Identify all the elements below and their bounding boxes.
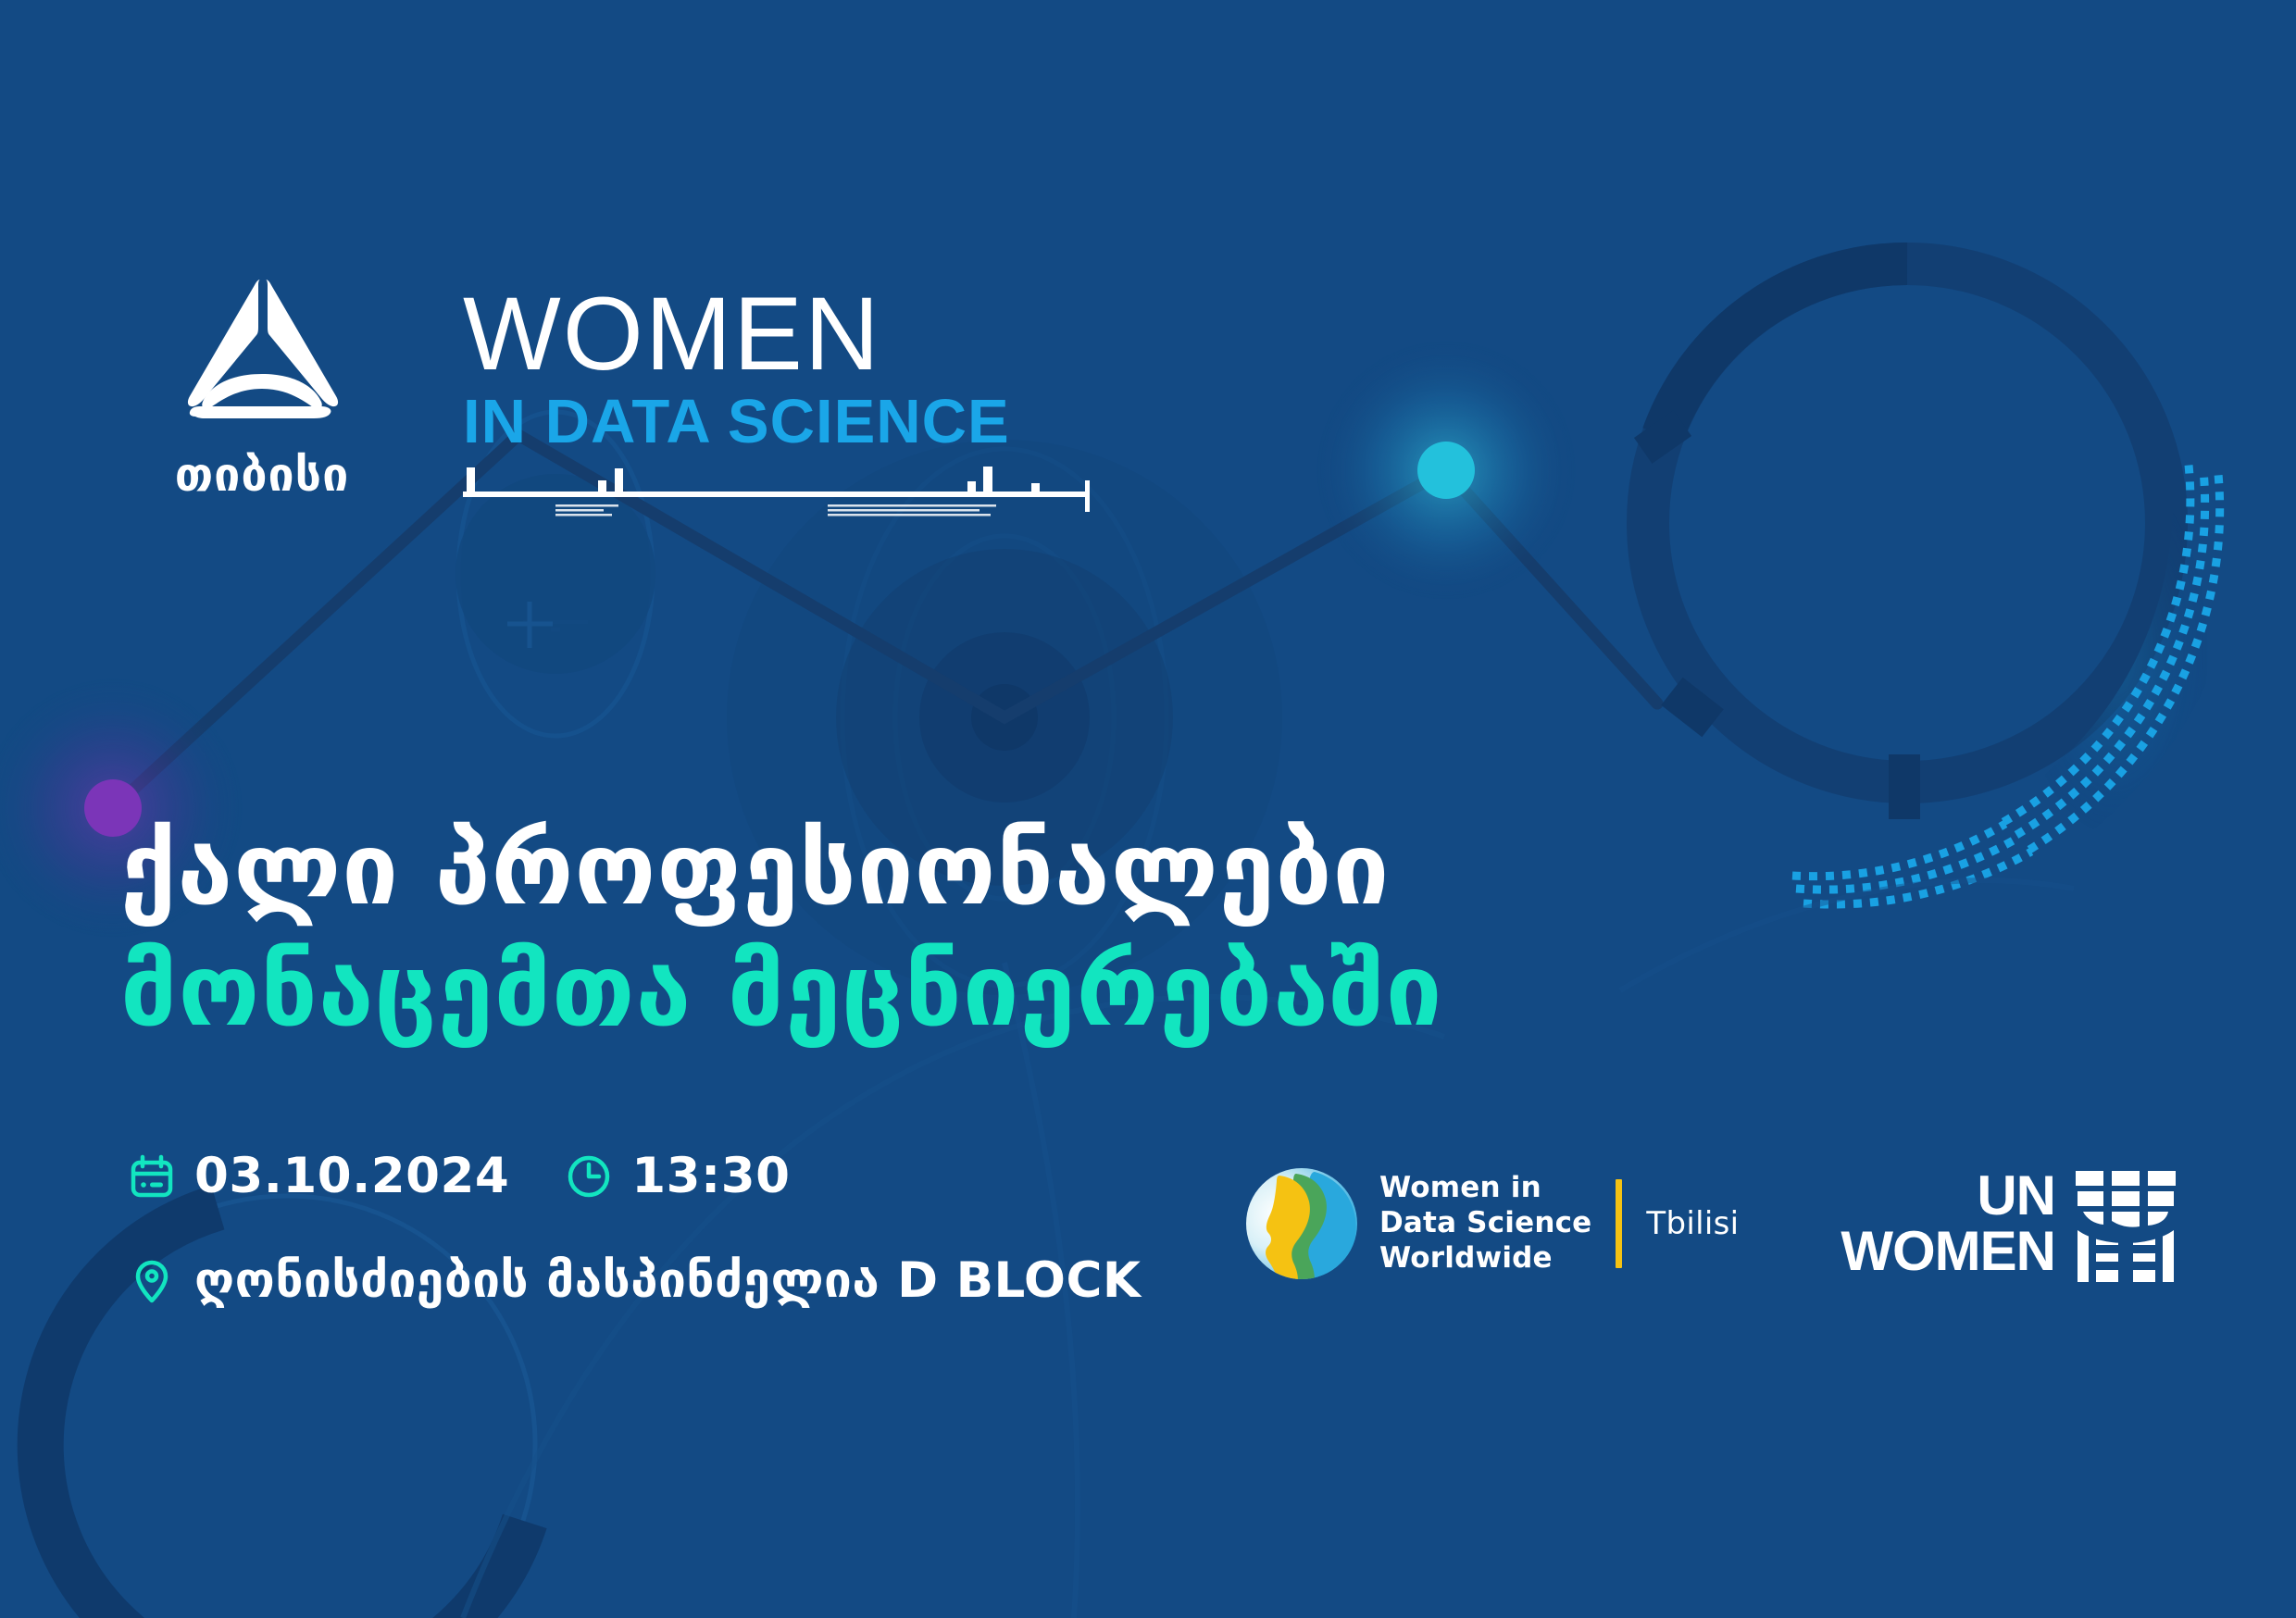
un-laurel-emblem <box>2066 1165 2185 1282</box>
event-location: ღონისძიების მასპინძელია D BLOCK <box>130 1252 1141 1309</box>
event-date: 03.10.2024 <box>130 1148 509 1204</box>
ring-large-right <box>1634 264 2166 819</box>
wids-title-indatascience: IN DATA SCIENCE <box>463 391 1111 453</box>
wids-ww-line1: Women in <box>1379 1171 1591 1206</box>
event-date-value: 03.10.2024 <box>194 1148 509 1204</box>
crosshair-mark <box>507 602 553 648</box>
calendar-icon <box>130 1154 174 1199</box>
tbc-wordmark: თიბისი <box>156 448 368 502</box>
node-cyan-glow <box>1316 341 1576 600</box>
partner-logos: Women in Data Science Worldwide Tbilisi … <box>1242 1164 2185 1283</box>
headline-line-2: მონაცემთა მეცნიერებაში <box>120 936 1879 1048</box>
wids-wordmark: WOMEN IN DATA SCIENCE <box>463 285 1111 529</box>
headline-line-1: ქალი პროფესიონალები <box>120 815 1879 927</box>
un-women-line2: WOMEN <box>1841 1226 2055 1276</box>
event-location-value: ღონისძიების მასპინძელია D BLOCK <box>194 1252 1141 1309</box>
wids-worldwide-text: Women in Data Science Worldwide <box>1379 1171 1591 1276</box>
tbc-bank-logo: თიბისი <box>156 278 368 502</box>
un-women-line1: UN <box>1841 1171 2055 1221</box>
wids-title-women: WOMEN <box>463 285 1111 383</box>
clock-icon <box>567 1154 611 1199</box>
tbc-triangle-mark <box>182 278 342 426</box>
details-row-datetime: 03.10.2024 13:30 <box>130 1148 1141 1204</box>
wids-ww-line2: Data Science <box>1379 1206 1591 1241</box>
node-cyan <box>1417 442 1475 499</box>
event-poster: თიბისი WOMEN IN DATA SCIENCE ქალი <box>0 0 2296 1618</box>
data-axis-chart <box>463 464 1102 529</box>
un-women-logo: UN WOMEN <box>1841 1165 2185 1282</box>
wids-ww-line3: Worldwide <box>1379 1241 1591 1276</box>
background-decoration <box>0 0 2296 1618</box>
wids-divider <box>1616 1179 1622 1268</box>
details-row-location: ღონისძიების მასპინძელია D BLOCK <box>130 1252 1141 1309</box>
un-women-wordmark: UN WOMEN <box>1841 1171 2055 1276</box>
location-pin-icon <box>130 1259 174 1303</box>
wids-worldwide-logo: Women in Data Science Worldwide Tbilisi <box>1242 1164 1739 1283</box>
globe-faces-icon <box>1242 1164 1361 1283</box>
event-details: 03.10.2024 13:30 ღონისძიების მასპინძელია… <box>130 1148 1141 1309</box>
event-time-value: 13:30 <box>631 1148 790 1204</box>
event-time: 13:30 <box>567 1148 790 1204</box>
wids-city-label: Tbilisi <box>1646 1205 1739 1242</box>
page-title: ქალი პროფესიონალები მონაცემთა მეცნიერება… <box>120 815 1879 1048</box>
